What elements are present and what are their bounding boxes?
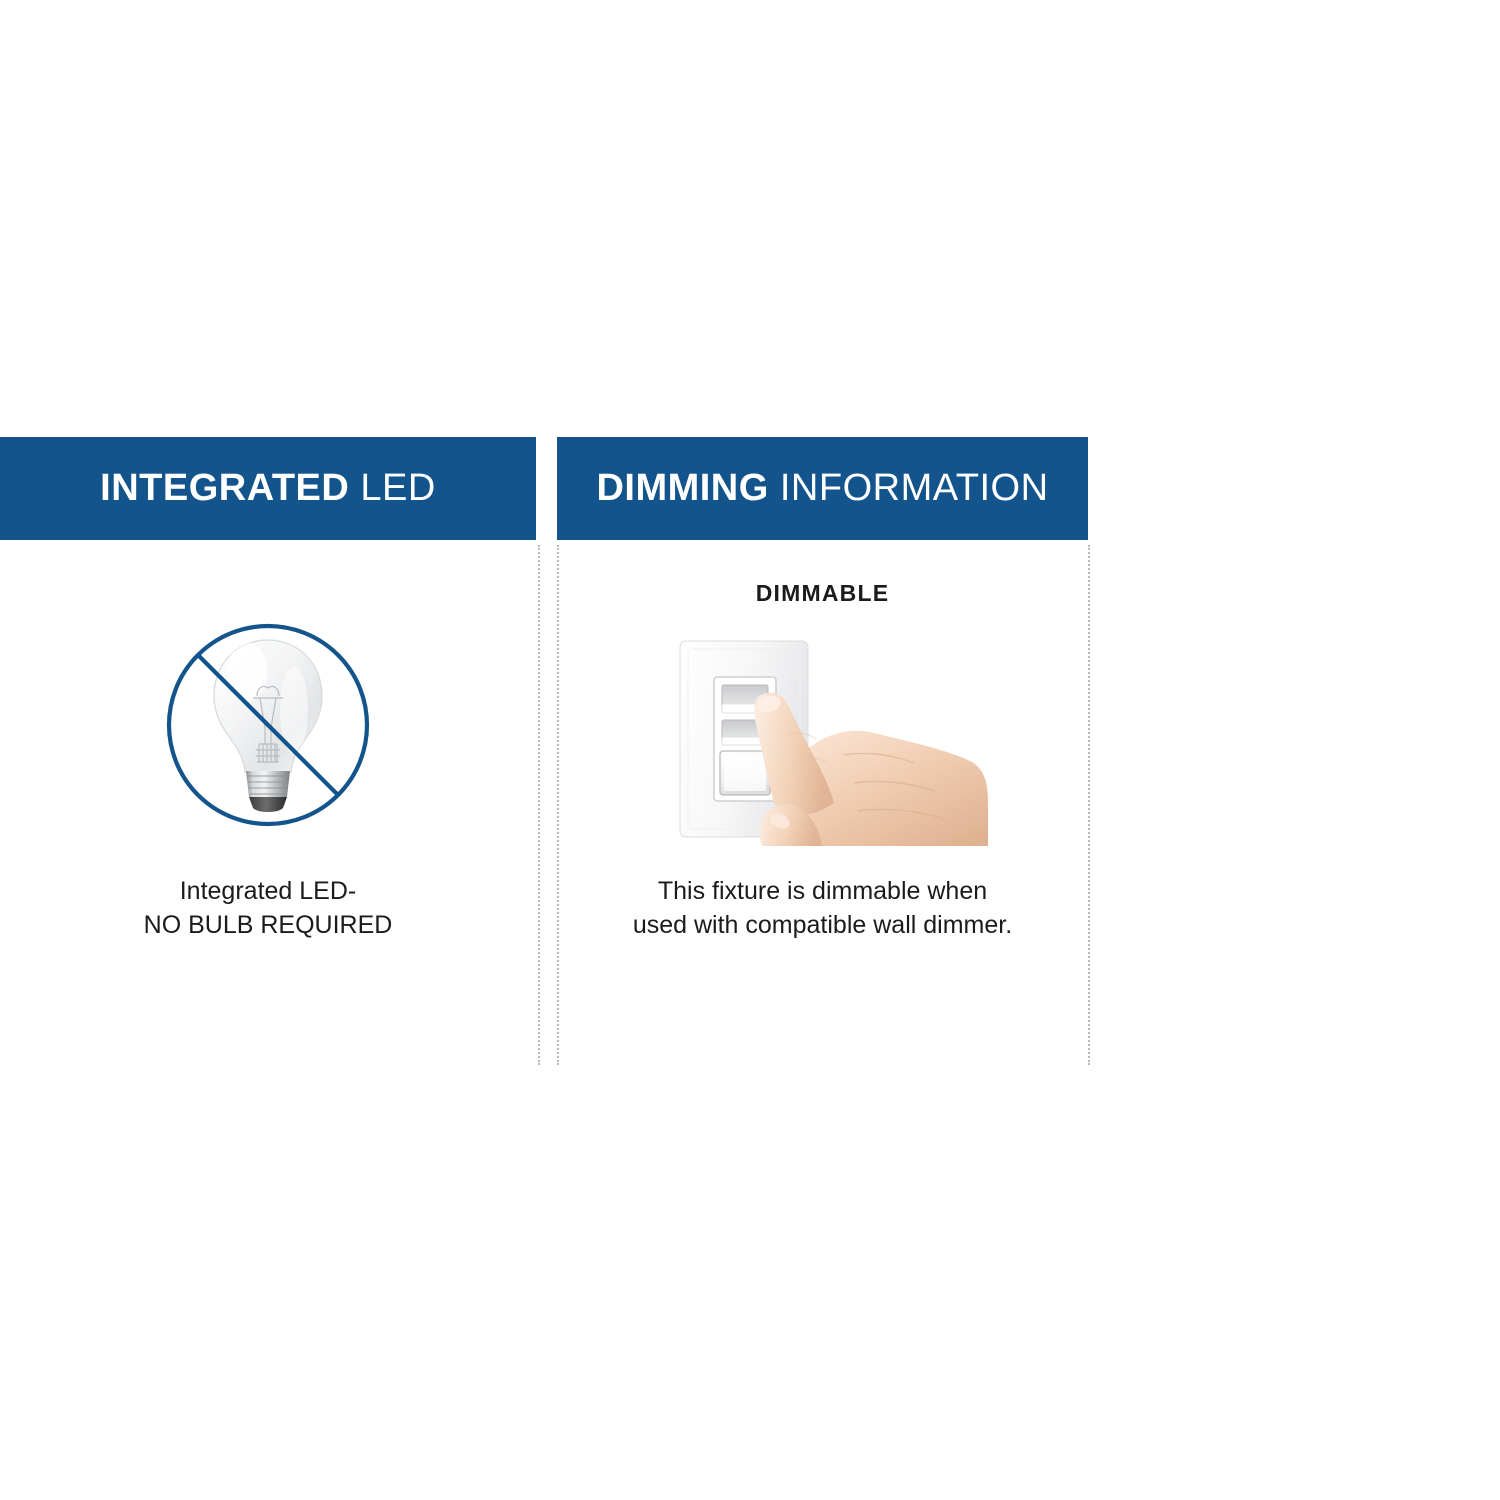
infographic-canvas: INTEGRATED LED: [0, 0, 1500, 1500]
caption-line-2: NO BULB REQUIRED: [144, 908, 393, 942]
no-bulb-icon: [153, 610, 383, 840]
panel-body-dimming-information: DIMMABLE: [557, 540, 1088, 942]
panel-header-integrated-led: INTEGRATED LED: [0, 437, 536, 540]
panel-header-dimming-information: DIMMING INFORMATION: [557, 437, 1088, 540]
panel-body-integrated-led: Integrated LED- NO BULB REQUIRED: [0, 540, 536, 942]
panel-dimming-information: DIMMING INFORMATION DIMMABLE: [557, 437, 1088, 942]
caption-line-1: Integrated LED-: [144, 874, 393, 908]
dotted-divider-left: [538, 545, 540, 1065]
caption-integrated-led: Integrated LED- NO BULB REQUIRED: [144, 874, 393, 942]
wall-dimmer-switch-icon: [658, 631, 988, 846]
panel-title-light: INFORMATION: [780, 467, 1049, 509]
panel-title-dimming-information: DIMMING INFORMATION: [596, 467, 1048, 510]
panel-title-integrated-led: INTEGRATED LED: [100, 467, 436, 510]
panel-title-bold: DIMMING: [596, 467, 768, 509]
panel-integrated-led: INTEGRATED LED: [0, 437, 536, 942]
dotted-divider-right: [1088, 545, 1090, 1065]
caption-line-2: used with compatible wall dimmer.: [633, 908, 1012, 942]
panel-title-bold: INTEGRATED: [100, 467, 349, 509]
panel-title-light: LED: [360, 467, 435, 509]
caption-dimming-information: This fixture is dimmable when used with …: [633, 874, 1012, 942]
caption-line-1: This fixture is dimmable when: [633, 874, 1012, 908]
sub-title-dimmable: DIMMABLE: [756, 580, 890, 607]
